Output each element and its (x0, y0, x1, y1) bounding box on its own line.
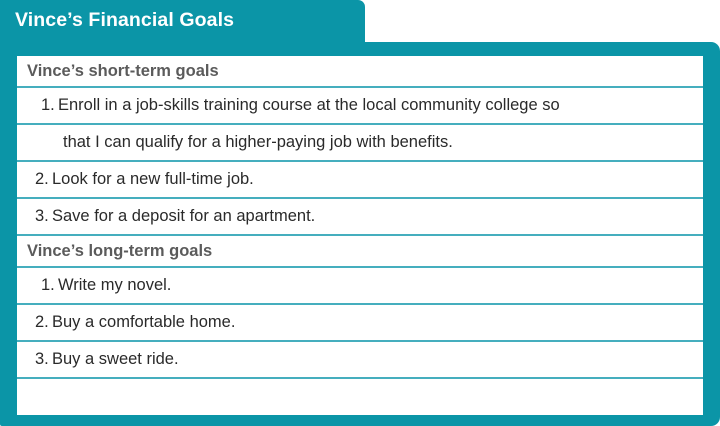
goal-number: 2. (35, 313, 52, 332)
goal-row: 2.Buy a comfortable home. (17, 304, 703, 341)
goals-table: Vince’s short-term goals1.Enroll in a jo… (17, 56, 703, 415)
financial-goals-document: Vince’s Financial Goals Vince’s short-te… (0, 0, 720, 426)
goal-row: 3.Save for a deposit for an apartment. (17, 198, 703, 235)
goals-table-container: Vince’s short-term goals1.Enroll in a jo… (17, 56, 703, 410)
section-heading-label: Vince’s short-term goals (17, 56, 703, 87)
goal-row: 2.Look for a new full-time job. (17, 161, 703, 198)
goal-cell: 3.Save for a deposit for an apartment. (17, 198, 703, 235)
goal-cell: 2.Buy a comfortable home. (17, 304, 703, 341)
goal-text: Buy a sweet ride. (52, 350, 179, 368)
goal-number: 1. (41, 96, 58, 115)
goal-cell: 1.Enroll in a job-skills training course… (17, 87, 703, 124)
empty-cell (17, 378, 703, 415)
goal-row: 1.Write my novel. (17, 267, 703, 304)
page-title: Vince’s Financial Goals (15, 9, 234, 32)
empty-row (17, 378, 703, 415)
goal-row: 3.Buy a sweet ride. (17, 341, 703, 378)
goal-cell: 1.Write my novel. (17, 267, 703, 304)
goal-number: 2. (35, 170, 52, 189)
goal-text: Save for a deposit for an apartment. (52, 207, 315, 225)
goals-panel: Vince’s short-term goals1.Enroll in a jo… (0, 42, 720, 426)
section-heading-row: Vince’s long-term goals (17, 235, 703, 267)
goal-row: 1.Enroll in a job-skills training course… (17, 87, 703, 124)
goal-cell: 3.Buy a sweet ride. (17, 341, 703, 378)
goals-table-body: Vince’s short-term goals1.Enroll in a jo… (17, 56, 703, 415)
goal-text: that I can qualify for a higher-paying j… (63, 133, 453, 151)
goal-cell: that I can qualify for a higher-paying j… (17, 124, 703, 161)
goal-text: Buy a comfortable home. (52, 313, 235, 331)
goal-text: Write my novel. (58, 276, 171, 294)
goal-text: Enroll in a job-skills training course a… (58, 96, 560, 114)
section-heading-row: Vince’s short-term goals (17, 56, 703, 87)
title-tab: Vince’s Financial Goals (0, 0, 365, 44)
goal-text: Look for a new full-time job. (52, 170, 254, 188)
goal-cell: 2.Look for a new full-time job. (17, 161, 703, 198)
section-heading-label: Vince’s long-term goals (17, 235, 703, 267)
goal-row-continuation: that I can qualify for a higher-paying j… (17, 124, 703, 161)
goal-number: 3. (35, 350, 52, 369)
goal-number: 1. (41, 276, 58, 295)
goal-number: 3. (35, 207, 52, 226)
